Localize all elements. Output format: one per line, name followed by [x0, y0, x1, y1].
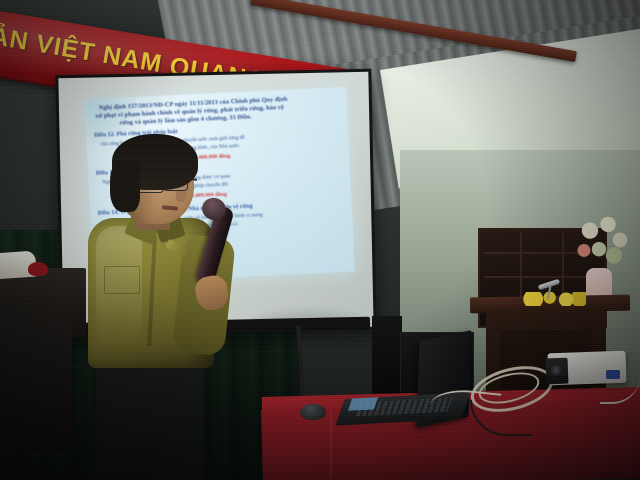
red-object	[28, 262, 48, 276]
presenter-hair-side	[110, 160, 140, 212]
yellow-flower-arrangement	[520, 292, 586, 306]
presenter-nose	[176, 190, 186, 202]
speaker-side-panel	[372, 316, 402, 400]
computer-mouse	[300, 404, 326, 420]
presenter-trousers	[96, 352, 204, 480]
laptop-trackpad	[348, 397, 378, 411]
shelf-divider	[484, 276, 601, 278]
flower-bouquet	[572, 212, 632, 274]
shirt-pocket	[104, 266, 140, 294]
tablecloth-fold	[330, 412, 332, 478]
photo-scene: SẢN VIỆT NAM QUANG VINH MUÔN NĂM Nghị đị…	[0, 0, 640, 480]
left-cabinet-lower	[0, 300, 72, 450]
projector-lens	[550, 364, 562, 376]
